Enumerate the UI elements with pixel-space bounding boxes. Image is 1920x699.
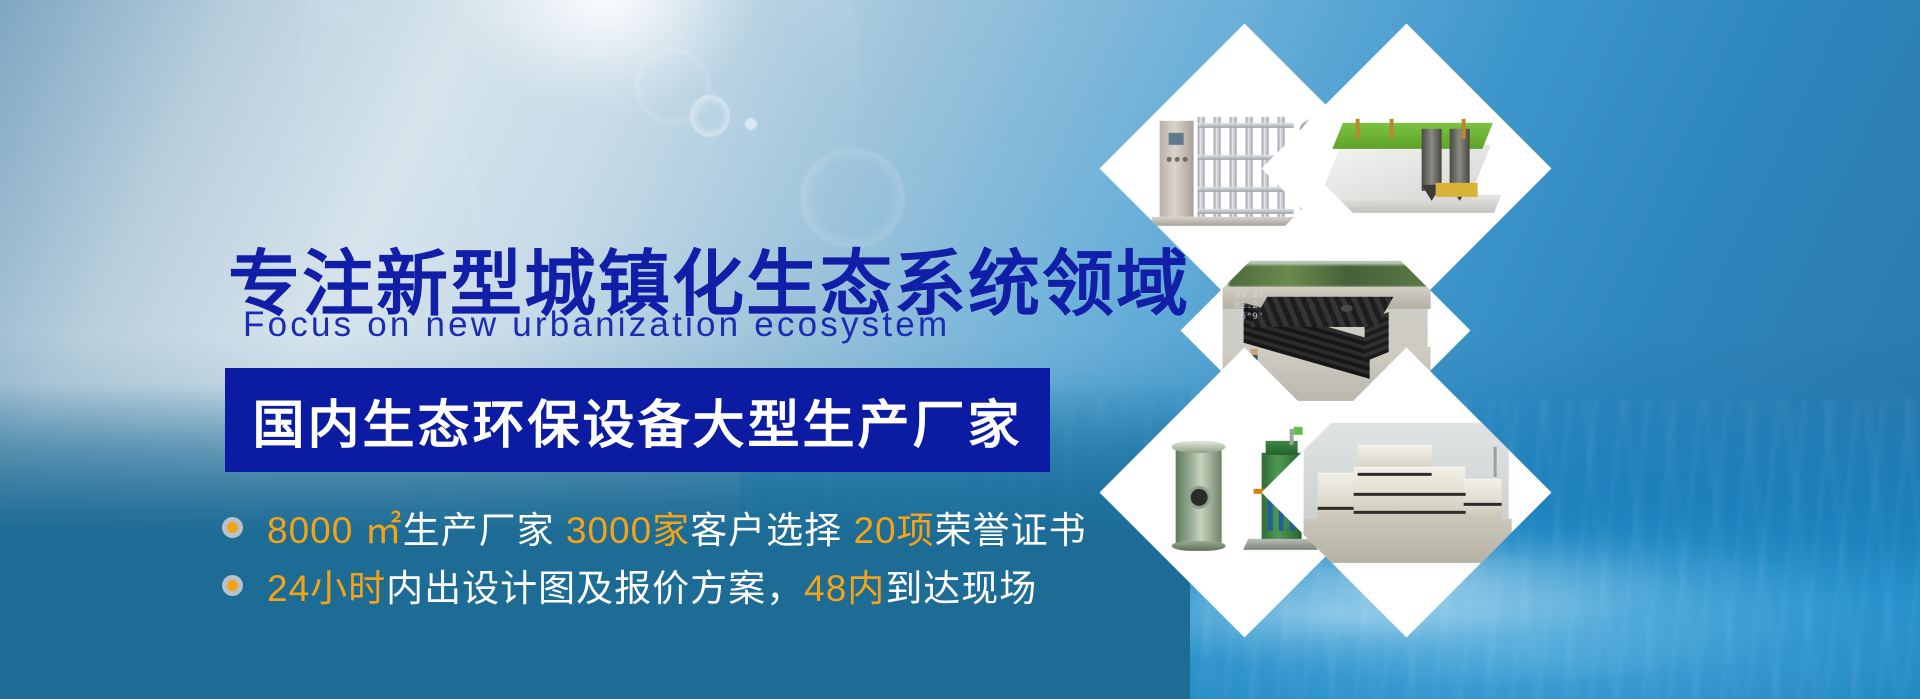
plain-text: 内出设计图及报价方案， xyxy=(386,568,804,609)
accent-text: 8000 ㎡ xyxy=(267,510,403,551)
highlight-banner-text: 国内生态环保设备大型生产厂家 xyxy=(252,383,1022,458)
copy-column: 专注新型城镇化生态系统领域 Focus on new urbanization … xyxy=(0,0,1100,699)
bullet-text-2: 24小时内出设计图及报价方案，48内到达现场 xyxy=(267,558,1037,612)
promotional-banner: 专注新型城镇化生态系统领域 Focus on new urbanization … xyxy=(0,0,1920,699)
plain-text: 生产厂家 xyxy=(403,510,566,551)
frp-panel-stack-image xyxy=(1304,423,1509,563)
plain-text: 客户选择 xyxy=(690,510,853,551)
feature-bullet-list: 8000 ㎡生产厂家 3000家客户选择 20项荣誉证书 24小时内出设计图及报… xyxy=(222,498,1087,614)
page-subtitle: Focus on new urbanization ecosystem xyxy=(243,305,950,345)
list-item: 8000 ㎡生产厂家 3000家客户选择 20项荣誉证书 xyxy=(222,498,1087,556)
bullet-text-1: 8000 ㎡生产厂家 3000家客户选择 20项荣誉证书 xyxy=(267,500,1087,554)
bullet-dot-icon xyxy=(222,517,243,538)
accent-text: 48内 xyxy=(804,568,885,609)
plain-text: 到达现场 xyxy=(885,568,1037,609)
accent-text: 3000家 xyxy=(566,510,690,551)
accent-text: 24小时 xyxy=(267,568,386,609)
accent-text: 20项 xyxy=(853,510,934,551)
product-diamond-collage: 39.4782.216°9' ■■■■■ xyxy=(1126,62,1556,622)
list-item: 24小时内出设计图及报价方案，48内到达现场 xyxy=(222,556,1087,614)
highlight-banner-box: 国内生态环保设备大型生产厂家 xyxy=(225,368,1050,472)
bullet-dot-icon xyxy=(222,575,243,596)
plain-text: 荣誉证书 xyxy=(935,510,1087,551)
